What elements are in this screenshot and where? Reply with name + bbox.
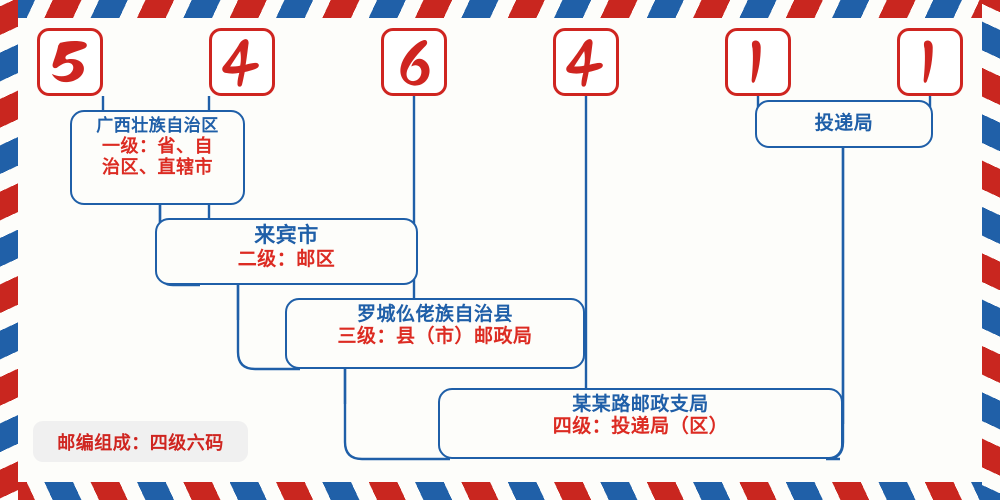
digit-card-3[interactable]: [381, 28, 447, 96]
delivery-office-label: 投递局: [815, 113, 874, 135]
legend-badge: 邮编组成：四级六码: [33, 421, 248, 462]
level-1-name: 广西壮族自治区: [82, 116, 233, 136]
digit-card-6[interactable]: [897, 28, 963, 96]
envelope-border-left: [0, 0, 18, 500]
envelope-border-top: [0, 0, 1000, 18]
level-2-name: 来宾市: [167, 224, 406, 249]
level-2-rule: 二级：邮区: [167, 249, 406, 271]
digit-card-1[interactable]: [37, 28, 103, 96]
brush-digit-4-icon: [556, 31, 616, 93]
envelope-border-bottom: [0, 482, 1000, 500]
digit-card-4[interactable]: [553, 28, 619, 96]
brush-digit-5-icon: [40, 31, 100, 93]
level-1-rule-line1: 一级：省、自: [82, 136, 233, 157]
level-box-3[interactable]: 罗城仫佬族自治县 三级：县（市）邮政局: [285, 298, 585, 369]
level-box-2[interactable]: 来宾市 二级：邮区: [155, 218, 418, 285]
envelope-border-right: [982, 0, 1000, 500]
postcode-structure-diagram: 广西壮族自治区 一级：省、自 治区、直辖市 来宾市 二级：邮区 罗城仫佬族自治县…: [0, 0, 1000, 500]
digit-card-5[interactable]: [725, 28, 791, 96]
level-4-name: 某某路邮政支局: [450, 394, 831, 416]
brush-digit-4-icon: [212, 31, 272, 93]
level-3-rule: 三级：县（市）邮政局: [297, 326, 573, 348]
level-box-4[interactable]: 某某路邮政支局 四级：投递局（区）: [438, 388, 843, 459]
delivery-office-box[interactable]: 投递局: [755, 100, 933, 148]
brush-digit-1-icon: [900, 31, 960, 93]
level-1-rule-line2: 治区、直辖市: [82, 157, 233, 178]
legend-text: 邮编组成：四级六码: [57, 429, 224, 455]
brush-digit-6-icon: [384, 31, 444, 93]
level-box-1[interactable]: 广西壮族自治区 一级：省、自 治区、直辖市: [70, 110, 245, 205]
level-3-name: 罗城仫佬族自治县: [297, 304, 573, 326]
level-4-rule: 四级：投递局（区）: [450, 416, 831, 438]
brush-digit-1-icon: [728, 31, 788, 93]
digit-card-2[interactable]: [209, 28, 275, 96]
elbow-level3-bottom: [345, 367, 450, 459]
